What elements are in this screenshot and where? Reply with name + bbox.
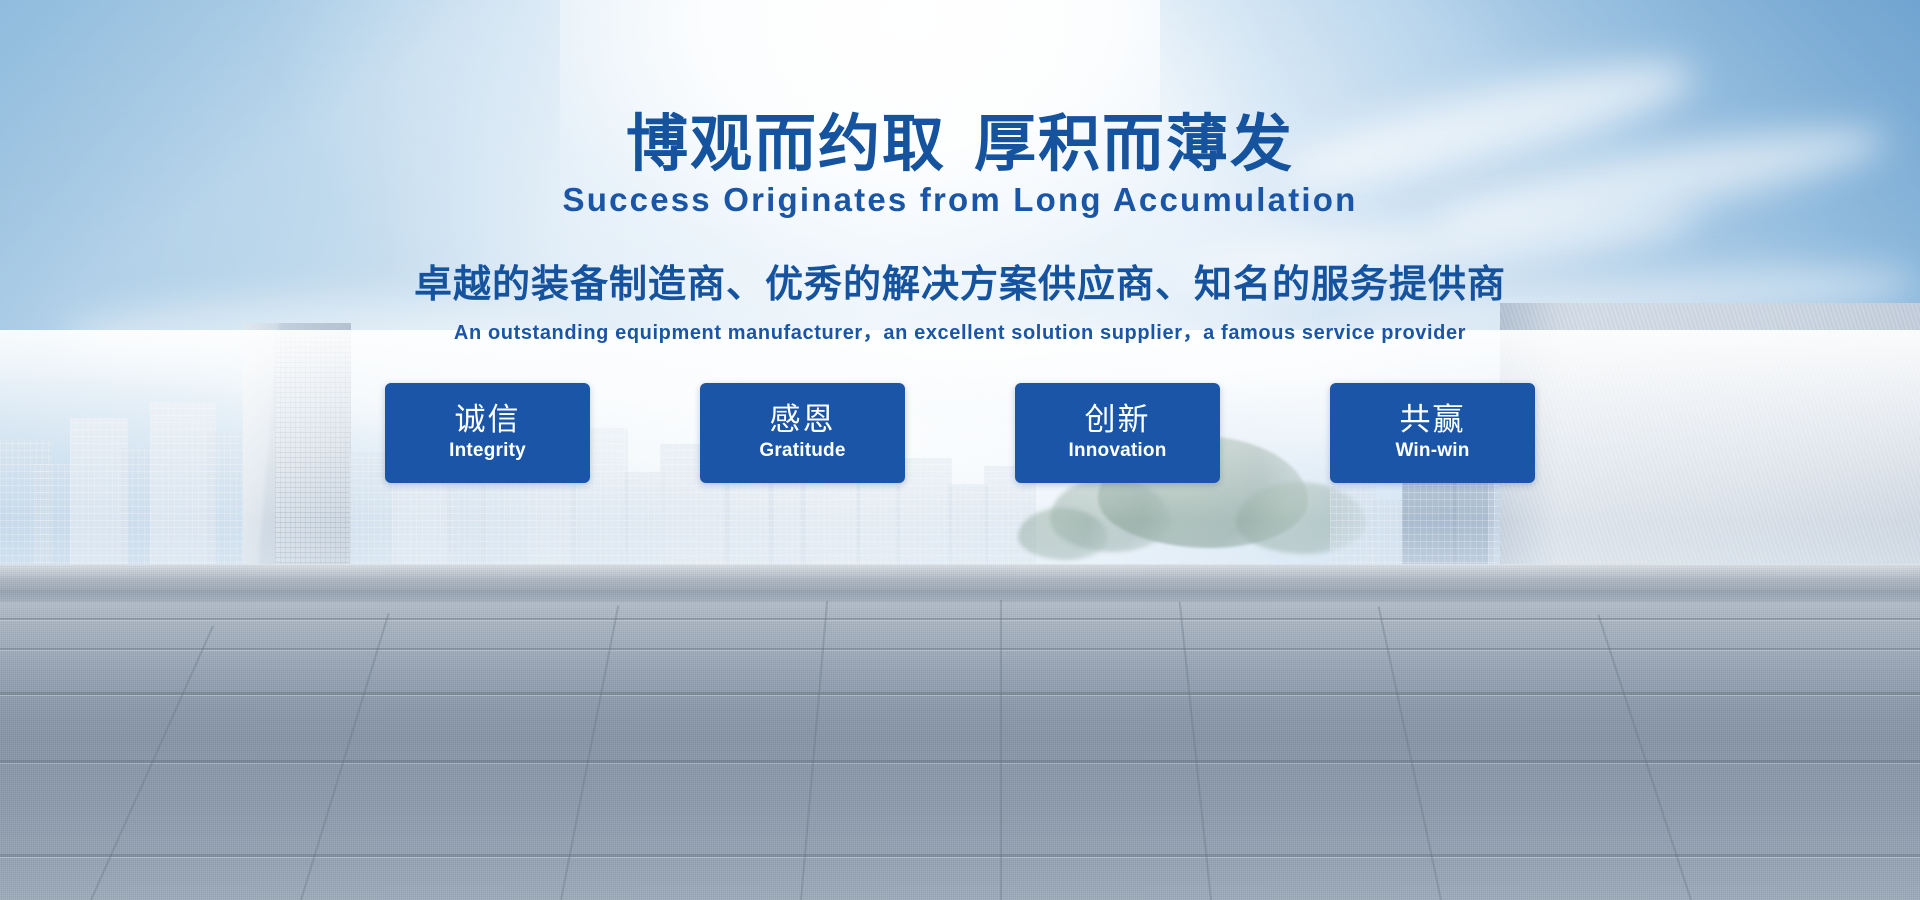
value-label-en: Gratitude (759, 440, 845, 463)
value-label-cn: 创新 (1085, 404, 1151, 437)
value-box-gratitude[interactable]: 感恩 Gratitude (700, 383, 905, 483)
headline-english: Success Originates from Long Accumulatio… (0, 181, 1920, 219)
headline-chinese: 博观而约取厚积而薄发 (0, 0, 1920, 175)
hero-banner: 博观而约取厚积而薄发 Success Originates from Long … (0, 0, 1920, 900)
headline-chinese-part1: 博观而约取 (626, 107, 946, 180)
value-label-en: Win-win (1395, 440, 1469, 463)
subtitle-english: An outstanding equipment manufacturer，an… (0, 316, 1920, 345)
value-label-en: Integrity (449, 440, 526, 463)
value-box-innovation[interactable]: 创新 Innovation (1015, 383, 1220, 483)
value-label-cn: 感恩 (770, 404, 836, 437)
granite-plaza (0, 564, 1920, 900)
core-values-list: 诚信 Integrity 感恩 Gratitude 创新 Innovation … (0, 383, 1920, 483)
headline-chinese-part2: 厚积而薄发 (974, 107, 1294, 180)
plaza-curb (0, 564, 1920, 590)
banner-content: 博观而约取厚积而薄发 Success Originates from Long … (0, 0, 1920, 483)
subtitle-chinese: 卓越的装备制造商、优秀的解决方案供应商、知名的服务提供商 (0, 253, 1920, 308)
value-box-winwin[interactable]: 共赢 Win-win (1330, 383, 1535, 483)
value-label-en: Innovation (1068, 440, 1166, 463)
value-label-cn: 诚信 (455, 404, 521, 437)
plaza-curb-shadow (0, 590, 1920, 602)
value-label-cn: 共赢 (1400, 404, 1466, 437)
value-box-integrity[interactable]: 诚信 Integrity (385, 383, 590, 483)
